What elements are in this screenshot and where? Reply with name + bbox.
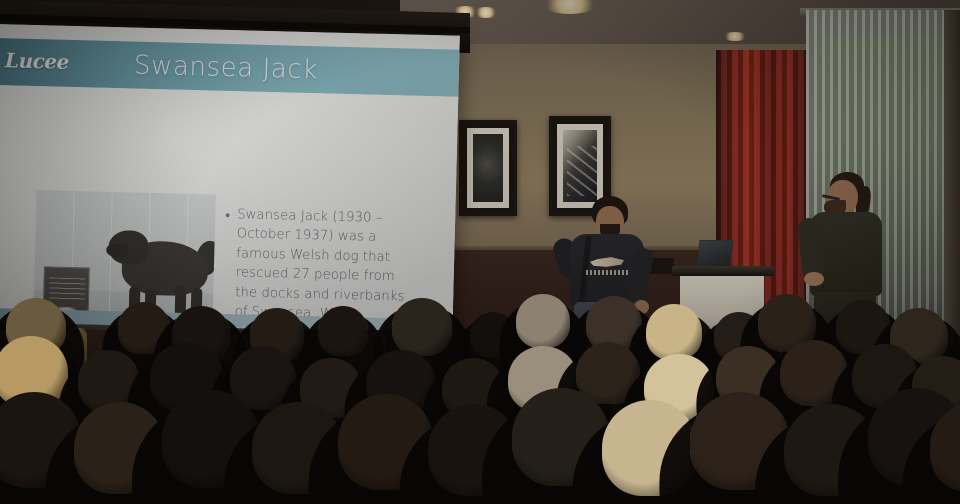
audience	[0, 284, 960, 504]
art-image	[563, 130, 597, 202]
audience-person	[428, 404, 520, 496]
ceiling-light	[722, 32, 748, 41]
audience-person	[784, 404, 878, 496]
audience-person	[516, 294, 570, 348]
audience-person	[512, 388, 610, 486]
audience-person	[318, 306, 368, 356]
audience-person	[74, 402, 166, 494]
audience-person	[392, 298, 452, 356]
tshirt-text	[586, 270, 628, 275]
conference-photo-scene: Lucee Swansea Jack	[0, 0, 960, 504]
audience-person	[118, 302, 170, 354]
ceiling-light	[474, 7, 498, 18]
framed-art-left	[459, 120, 517, 216]
dog-snout	[106, 244, 128, 258]
audience-person	[338, 394, 434, 490]
lectern-top	[672, 266, 774, 276]
art-image	[473, 134, 503, 202]
audience-person	[470, 312, 516, 358]
audience-person	[646, 304, 702, 360]
audience-person	[252, 402, 344, 494]
audience-person	[602, 400, 698, 496]
audience-person	[780, 340, 848, 406]
audience-person	[162, 390, 260, 488]
audience-person	[690, 392, 790, 490]
laptop-screen	[697, 240, 734, 268]
